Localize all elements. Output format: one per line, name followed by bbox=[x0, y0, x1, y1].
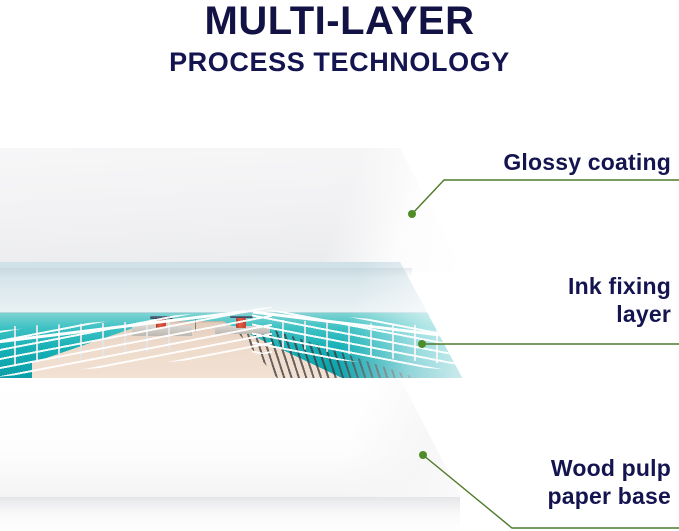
callout-labels: Glossy coating Ink fixing layer Wood pul… bbox=[0, 0, 679, 531]
page-subtitle: PROCESS TECHNOLOGY bbox=[0, 41, 679, 78]
callout-label-wood-pulp-paper-base[interactable]: Wood pulp paper base bbox=[548, 454, 671, 510]
headline-block: MULTI-LAYER PROCESS TECHNOLOGY bbox=[0, 0, 679, 78]
infographic-canvas: MULTI-LAYER PROCESS TECHNOLOGY Glossy co… bbox=[0, 0, 679, 531]
callout-label-ink-fixing-layer[interactable]: Ink fixing layer bbox=[568, 272, 671, 328]
page-title: MULTI-LAYER bbox=[0, 0, 679, 41]
callout-label-glossy-coating[interactable]: Glossy coating bbox=[503, 148, 671, 176]
